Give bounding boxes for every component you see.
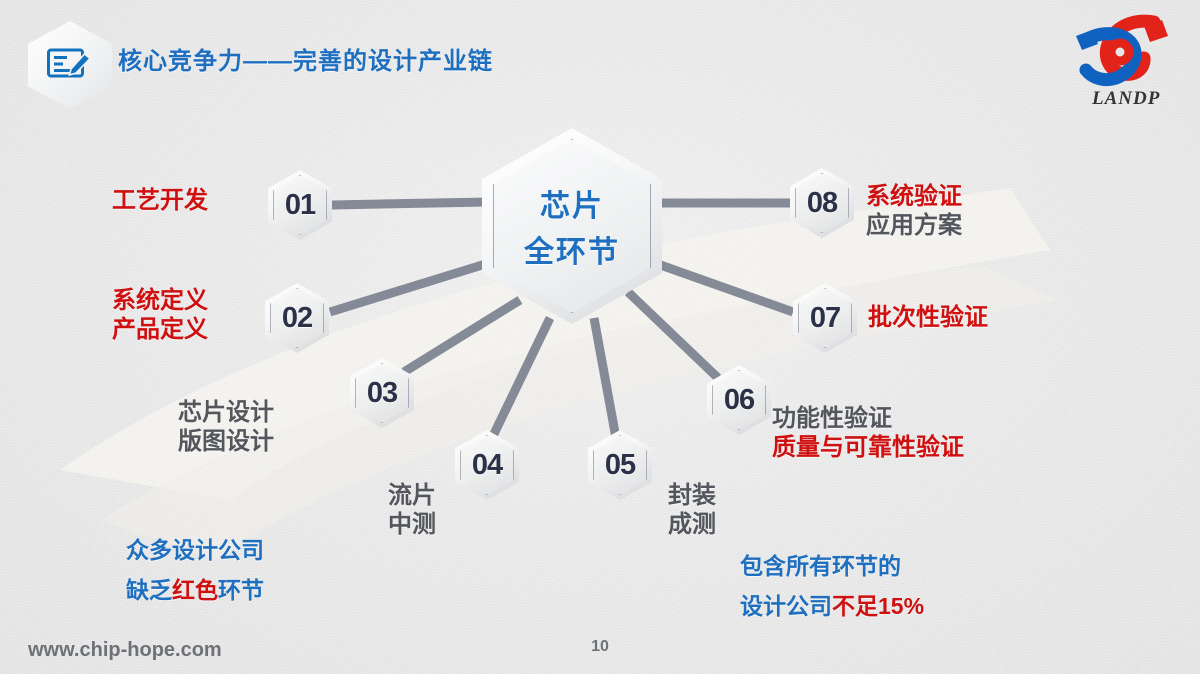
logo-text: LANDP xyxy=(1092,88,1160,110)
node-hexagon-07[interactable]: 07 xyxy=(793,283,857,353)
slide-header: 核心竞争力——完善的设计产业链 LANDP xyxy=(0,0,1200,118)
center-line-2: 全环节 xyxy=(524,227,620,271)
node-hexagon-02[interactable]: 02 xyxy=(265,283,329,353)
statement-right: 包含所有环节的 设计公司不足15% xyxy=(740,546,924,627)
statement-right-l2-b: 不足15% xyxy=(832,593,924,619)
node-number: 08 xyxy=(790,168,854,238)
statement-left-l2-b: 红色 xyxy=(172,577,218,603)
statement-left-l2-c: 环节 xyxy=(218,577,264,603)
page-number: 10 xyxy=(0,638,1200,656)
node-hexagon-01[interactable]: 01 xyxy=(268,170,332,240)
label-05-line-1: 封装 xyxy=(668,481,716,510)
node-hexagon-04[interactable]: 04 xyxy=(455,430,519,500)
node-hexagon-05[interactable]: 05 xyxy=(588,430,652,500)
label-04: 流片 中测 xyxy=(388,481,436,540)
label-06-line-2: 质量与可靠性验证 xyxy=(772,433,964,462)
statement-right-l2-a: 设计公司 xyxy=(740,593,832,619)
label-03-line-1: 芯片设计 xyxy=(178,398,274,427)
node-number: 07 xyxy=(793,283,857,353)
node-number: 02 xyxy=(265,283,329,353)
node-number: 06 xyxy=(707,365,771,435)
label-08-line-1: 系统验证 xyxy=(866,182,962,211)
slide-canvas: 核心竞争力——完善的设计产业链 LANDP xyxy=(0,0,1200,674)
label-06-line-1: 功能性验证 xyxy=(772,404,964,433)
node-number: 01 xyxy=(268,170,332,240)
node-number: 04 xyxy=(455,430,519,500)
label-04-line-1: 流片 xyxy=(388,481,436,510)
label-04-line-2: 中测 xyxy=(388,510,436,539)
label-03-line-2: 版图设计 xyxy=(178,427,274,456)
label-08: 系统验证 应用方案 xyxy=(866,182,962,241)
label-06: 功能性验证 质量与可靠性验证 xyxy=(772,404,964,463)
statement-right-line-2: 设计公司不足15% xyxy=(740,586,924,626)
statement-right-line-1: 包含所有环节的 xyxy=(740,546,924,586)
node-number: 05 xyxy=(588,430,652,500)
statement-left-line-1: 众多设计公司 xyxy=(126,530,264,570)
label-02-line-1: 系统定义 xyxy=(112,286,208,315)
landp-logo: LANDP xyxy=(1058,14,1184,110)
center-hexagon[interactable]: 芯片 全环节 xyxy=(482,128,662,324)
node-hexagon-06[interactable]: 06 xyxy=(707,365,771,435)
label-05: 封装 成测 xyxy=(668,481,716,540)
label-07: 批次性验证 xyxy=(868,303,988,332)
label-05-line-2: 成测 xyxy=(668,510,716,539)
label-01: 工艺开发 xyxy=(112,186,208,215)
statement-left-l2-a: 缺乏 xyxy=(126,577,172,603)
label-02: 系统定义 产品定义 xyxy=(112,286,208,345)
node-hexagon-03[interactable]: 03 xyxy=(350,358,414,428)
statement-left: 众多设计公司 缺乏红色环节 xyxy=(126,530,264,611)
label-03: 芯片设计 版图设计 xyxy=(178,398,274,457)
label-08-line-2: 应用方案 xyxy=(866,211,962,240)
statement-left-line-2: 缺乏红色环节 xyxy=(126,570,264,610)
document-edit-icon xyxy=(28,21,112,109)
label-02-line-2: 产品定义 xyxy=(112,315,208,344)
page-title: 核心竞争力——完善的设计产业链 xyxy=(118,41,493,76)
node-number: 03 xyxy=(350,358,414,428)
center-line-1: 芯片 xyxy=(540,181,604,225)
node-hexagon-08[interactable]: 08 xyxy=(790,168,854,238)
